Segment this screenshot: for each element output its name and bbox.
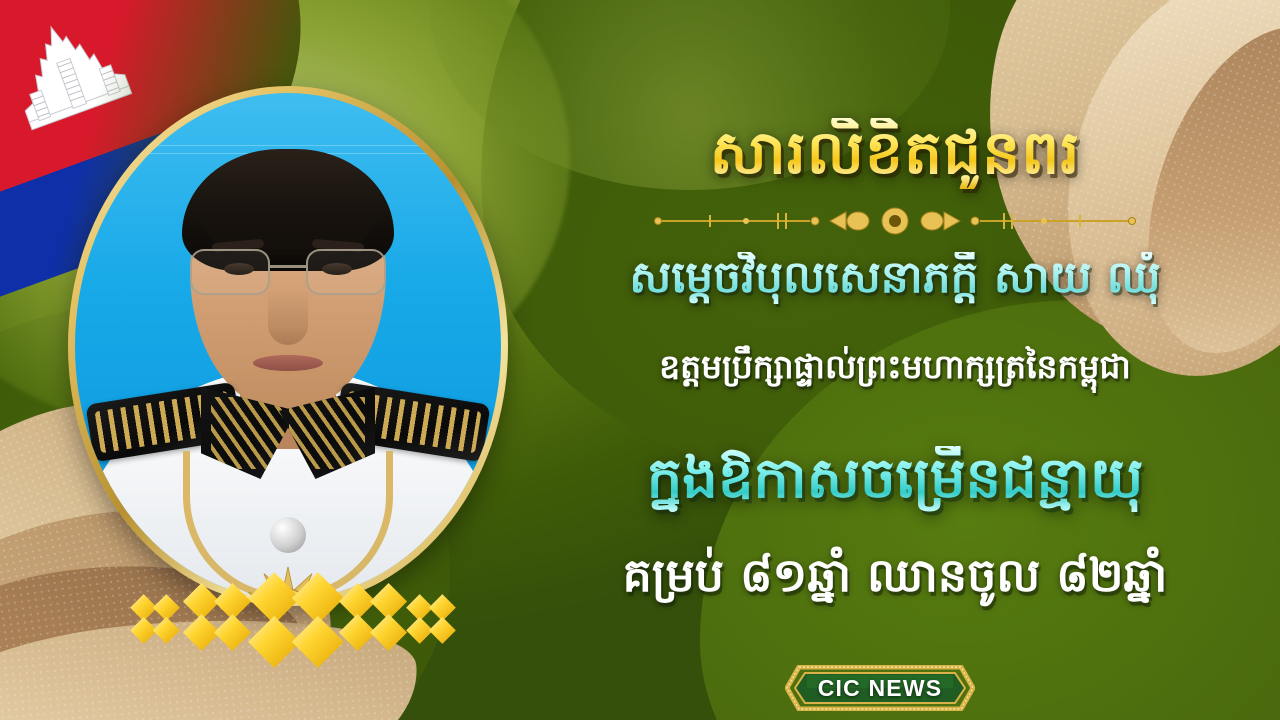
mouth [253,355,323,371]
greeting-poster: សារលិខិតជូនពរ សម្តេចវិបុលសេនាភក្តី សាយ [0,0,1280,720]
gold-diamond-flower [128,592,182,646]
portrait-figure [75,93,501,599]
honoree-subtitle: ឧត្តមប្រឹក្សាផ្ទាល់ព្រះមហាក្សត្រនៃកម្ពុជ… [510,348,1280,387]
gold-diamond-flower [404,592,458,646]
nose [268,289,308,345]
portrait-photo [75,93,501,599]
portrait-frame [68,86,508,606]
honoree-name: សម្តេចវិបុលសេនាភក្តី សាយ ឈុំ [510,252,1280,304]
gold-diamond-flower [336,580,410,654]
pearl-pendant [270,517,306,553]
occasion-line: ក្នុងឱកាសចម្រើនជន្មាយុ [510,446,1280,512]
message-text-column: សារលិខិតជូនពរ សម្តេចវិបុលសេនាភក្តី សាយ [510,0,1280,720]
gold-diamond-flower [180,580,254,654]
gold-diamond-flower [244,568,348,672]
poster-title: សារលិខិតជូនពរ [510,118,1280,189]
logo-text: CIC NEWS [785,665,975,711]
cic-news-logo[interactable]: CIC NEWS [785,665,975,711]
gold-filigree-divider-icon [510,203,1280,239]
age-line: គម្រប់ ៨១ឆ្នាំ ឈានចូល ៨២ឆ្នាំ [510,548,1280,602]
